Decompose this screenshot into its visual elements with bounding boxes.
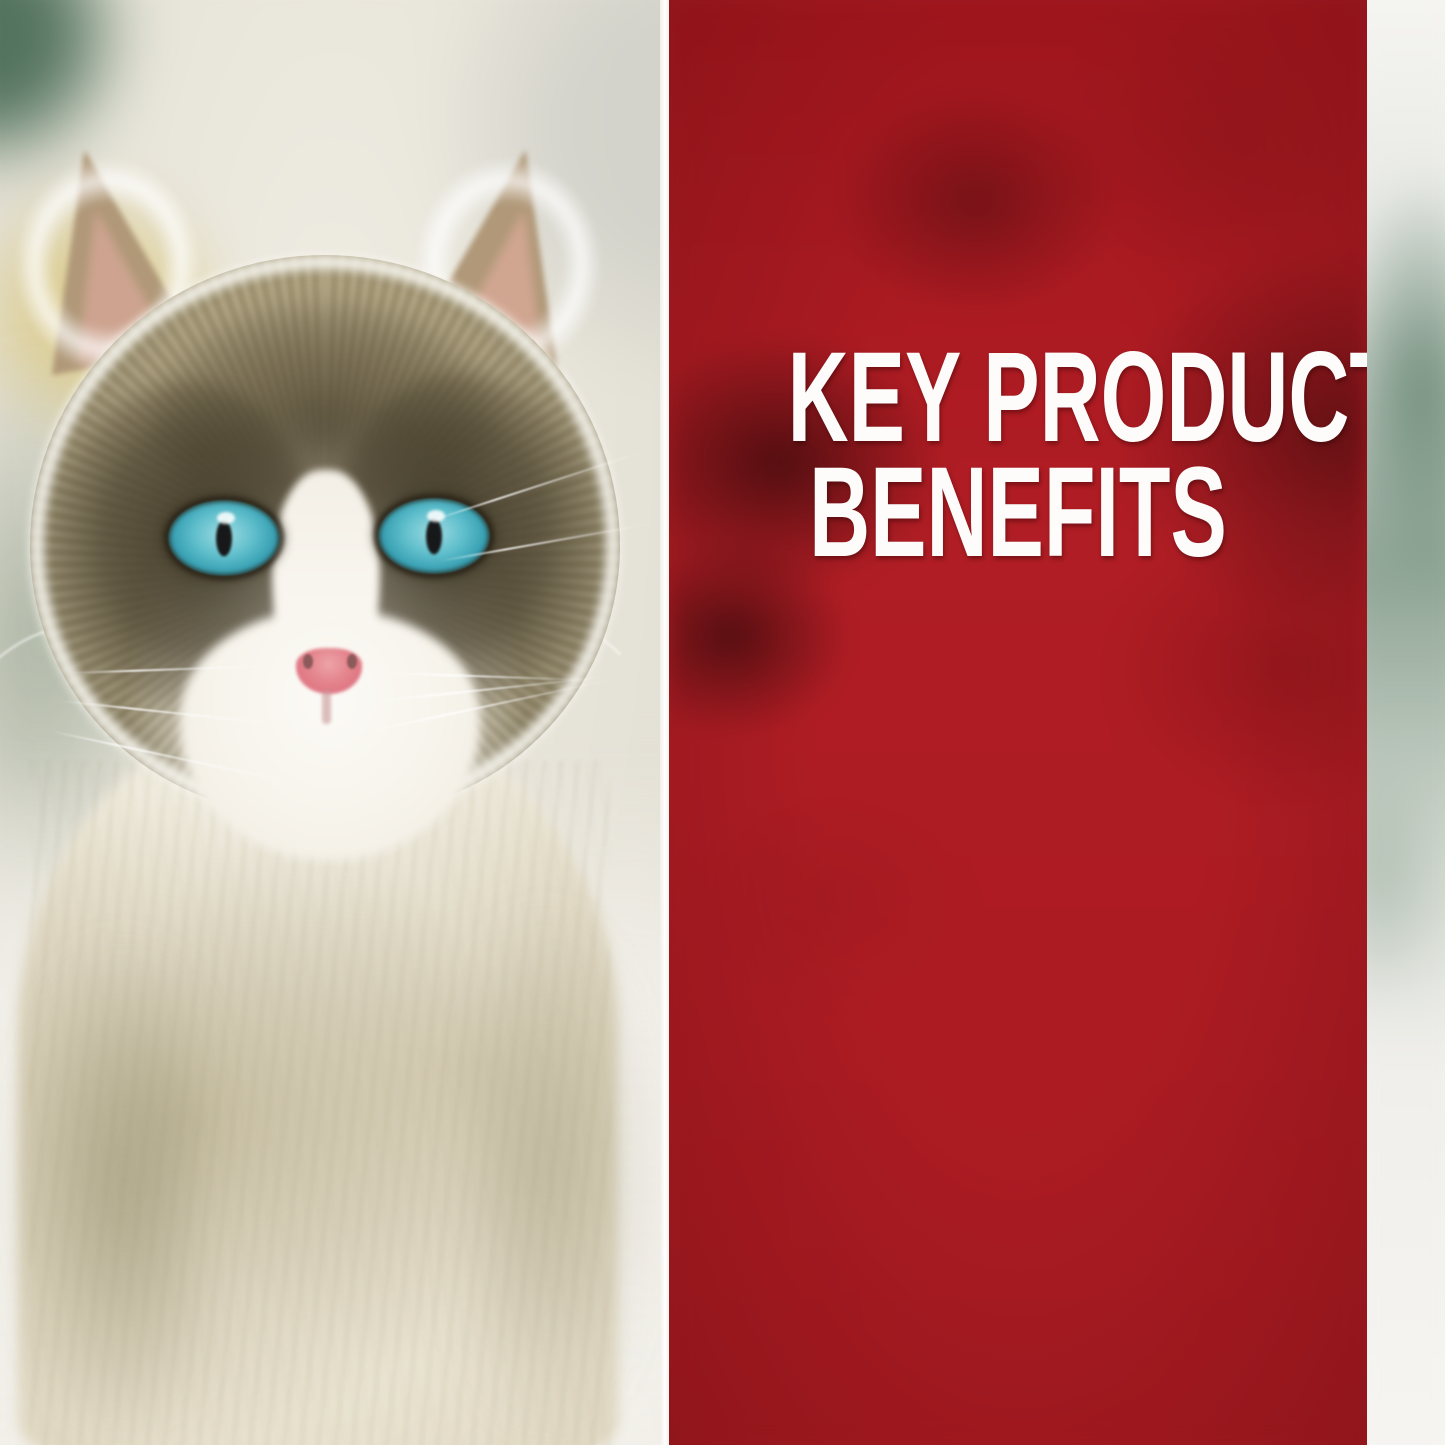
right-background-strip [1367,0,1445,1445]
panel-title-line-1: KEY PRODUCT [788,340,1249,455]
cat-illustration [0,0,665,1445]
right-background-blur [1367,0,1445,1445]
cat-nostril-left [303,654,313,669]
panel-title: KEY PRODUCT BENEFITS [669,340,1367,570]
cat-eye-rim-left [164,496,284,580]
cat-mouth [322,690,331,724]
product-benefits-graphic: KEY PRODUCT BENEFITS SUPPORTS MUSCLE DEV… [0,0,1445,1445]
benefits-panel: KEY PRODUCT BENEFITS SUPPORTS MUSCLE DEV… [669,0,1367,1445]
cat-photo [0,0,665,1445]
panel-title-line-2: BENEFITS [788,455,1249,570]
panel-divider-gap [660,0,669,1445]
panel-content: KEY PRODUCT BENEFITS SUPPORTS MUSCLE DEV… [669,0,1367,1445]
cat-nostril-right [347,654,357,669]
